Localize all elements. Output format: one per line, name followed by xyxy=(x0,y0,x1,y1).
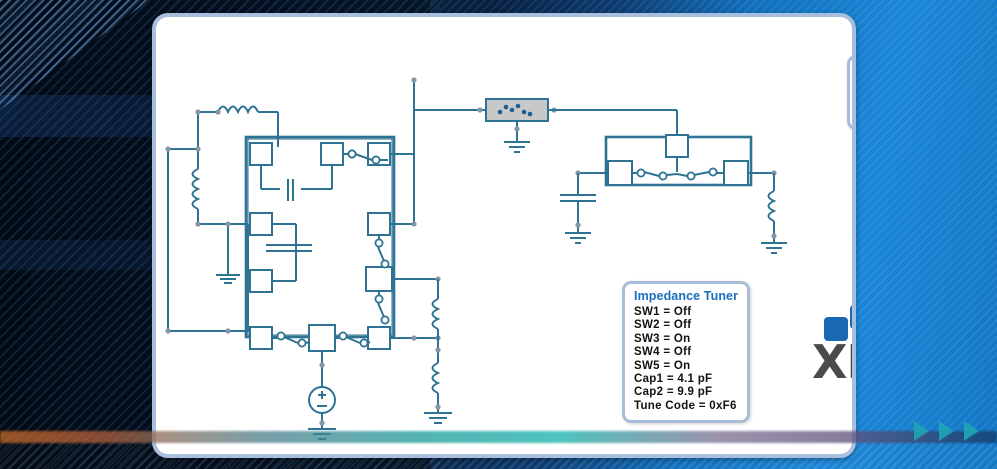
series-inductors-ground xyxy=(424,279,452,423)
impedance-tuner-line-5: SW5 = On xyxy=(634,360,738,373)
impedance-tuner-line-4: SW4 = Off xyxy=(634,346,738,359)
impedance-tuner-title: Impedance Tuner xyxy=(634,289,738,303)
impedance-tuner-line-1: SW1 = Off xyxy=(634,306,738,319)
sparam-block xyxy=(414,99,606,154)
chevron-right-icon-1 xyxy=(914,421,929,441)
impedance-tuner-line-2: SW2 = Off xyxy=(634,319,738,332)
chevron-right-icon-2 xyxy=(939,421,954,441)
bottom-color-streak xyxy=(0,431,997,443)
arrow-group xyxy=(914,421,979,441)
screenshot-stage: .w{stroke:#2e7394;stroke-width:2;fill:no… xyxy=(0,0,997,469)
aperture-tuner-block xyxy=(560,110,787,253)
logo-square-2 xyxy=(850,305,856,329)
chevron-right-icon-3 xyxy=(964,421,979,441)
impedance-tuner-block xyxy=(246,137,394,351)
schematic-panel: .w{stroke:#2e7394;stroke-width:2;fill:no… xyxy=(152,13,856,458)
tuner-connections xyxy=(165,77,440,340)
logo-text-xf: XF xyxy=(812,335,856,389)
xfdtd-logo: XFdtd ® xyxy=(806,305,856,405)
logo-wordmark: XFdtd xyxy=(812,339,856,385)
impedance-tuner-line-7: Cap2 = 9.9 pF xyxy=(634,386,738,399)
bottom-bar xyxy=(0,443,997,469)
impedance-tuner-callout: Impedance Tuner SW1 = Off SW2 = Off SW3 … xyxy=(622,281,750,423)
voltage-source xyxy=(308,351,336,439)
impedance-tuner-line-3: SW3 = On xyxy=(634,333,738,346)
impedance-tuner-line-8: Tune Code = 0xF6 xyxy=(634,400,738,413)
aperture-tuner-callout: Aperture Tuner SW1 = On SW2 = On Tune Co… xyxy=(847,55,856,130)
impedance-tuner-line-6: Cap1 = 4.1 pF xyxy=(634,373,738,386)
